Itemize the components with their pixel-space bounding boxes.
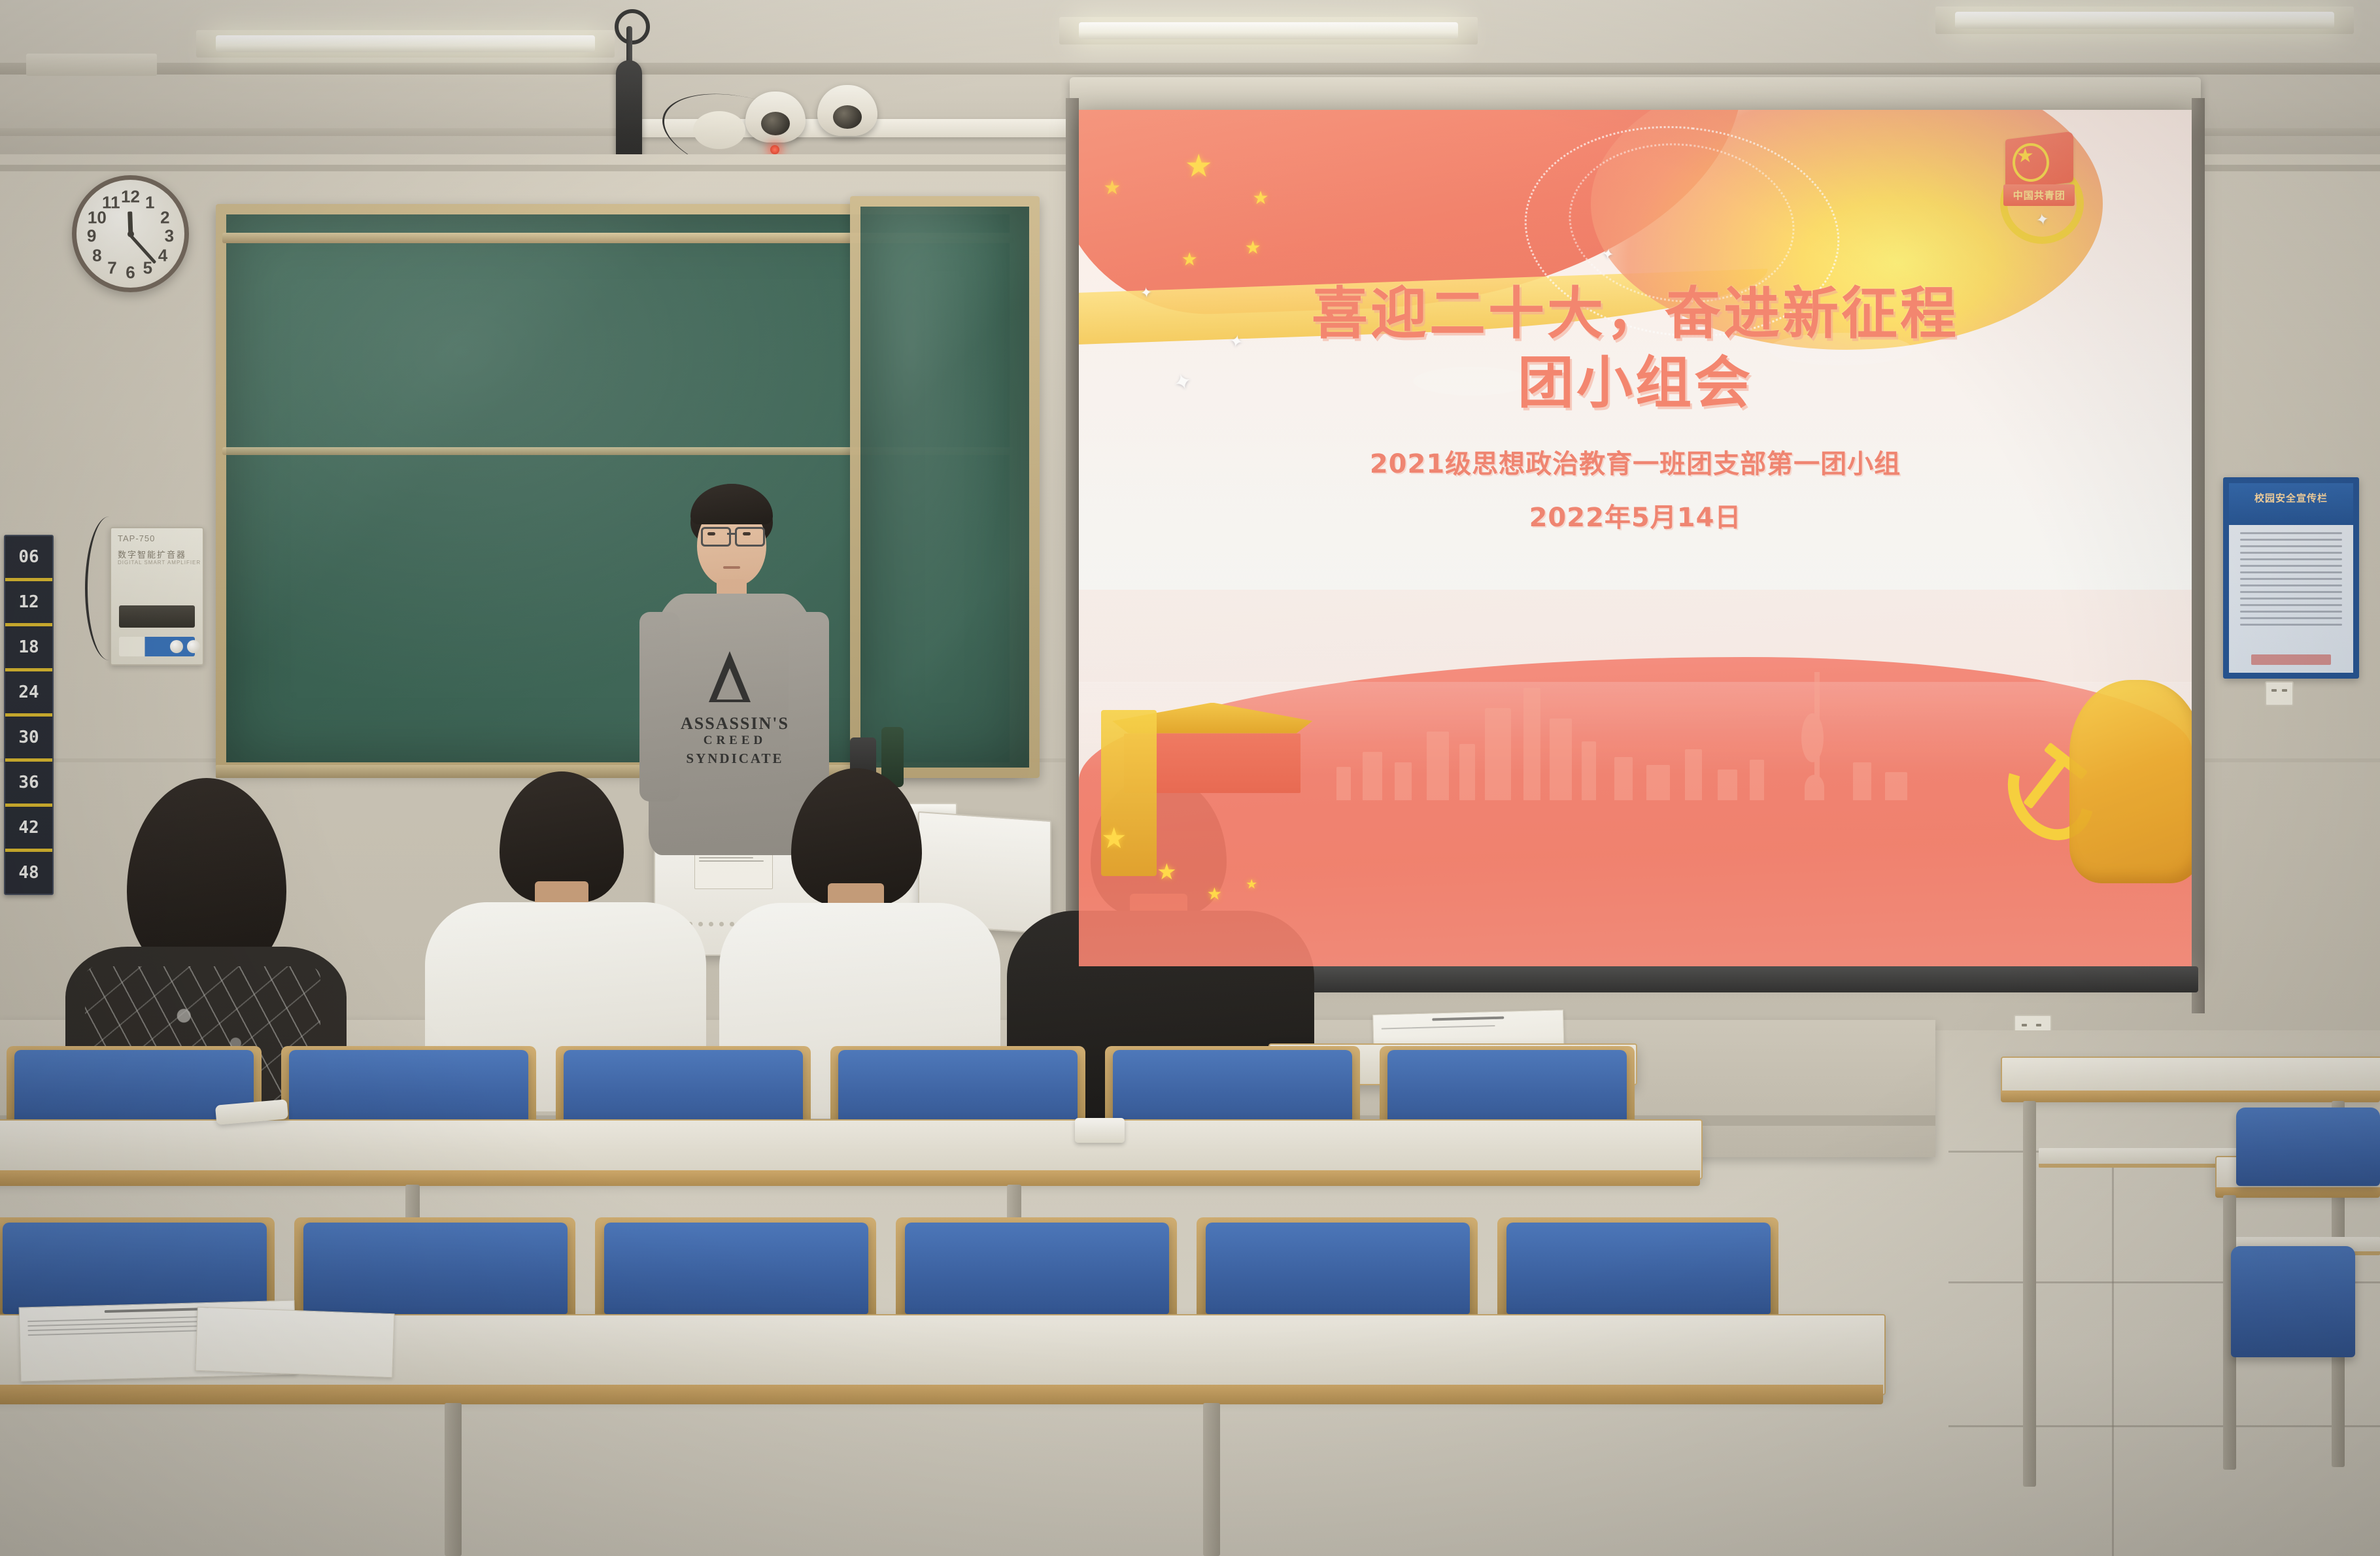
student-2 [425, 771, 700, 1066]
dove-icon: ✦ [2035, 212, 2050, 229]
wall-power-outlet[interactable] [2265, 681, 2294, 706]
side-chair-2[interactable] [2231, 1246, 2355, 1357]
footer-star-icon: ★ [1207, 885, 1222, 902]
clock-number: 8 [92, 245, 101, 265]
volume-knob[interactable] [170, 640, 183, 653]
floor-tile-line [2112, 1151, 2114, 1556]
slide-date: 2022年5月14日 [1079, 496, 2192, 534]
clock-number: 3 [165, 226, 174, 246]
classroom-photo: 12 1 2 3 4 5 6 7 8 9 10 11 TAP-750 数字智能扩… [0, 0, 2380, 1556]
chair-8[interactable] [303, 1223, 568, 1314]
ac-insignia-shape [709, 651, 751, 702]
mouth [723, 566, 740, 569]
flag-star-icon: ★ [1103, 178, 1121, 198]
desk-edge [0, 1170, 1700, 1186]
ceiling-light [216, 35, 595, 52]
floor-tile-line [1948, 1425, 2380, 1427]
ceiling-beam [0, 63, 2380, 75]
student-1 [59, 778, 333, 1066]
chair-7[interactable] [3, 1223, 267, 1314]
chair-12[interactable] [1506, 1223, 1771, 1314]
seat-number-cell: 12 [5, 581, 52, 626]
safety-poster: 校园安全宣传栏 [2223, 477, 2359, 679]
chair-11[interactable] [1206, 1223, 1470, 1314]
poster-footer-banner [2251, 654, 2331, 665]
footer-star-icon: ★ [1101, 824, 1127, 853]
seat-number-cell: 18 [5, 626, 52, 671]
light-fixture-housing [26, 54, 157, 76]
flag-star-icon: ★ [1253, 189, 1269, 207]
chair-2[interactable] [289, 1050, 528, 1130]
city-skyline-graphic [1323, 672, 1969, 800]
desk-edge [2001, 1091, 2380, 1102]
chalkboard-surface [860, 207, 1029, 768]
eye [743, 532, 751, 535]
poster-body-text [2240, 532, 2342, 646]
chair-4[interactable] [838, 1050, 1078, 1130]
slide-title-line2: 团小组会 [1079, 347, 2192, 420]
eye [707, 532, 715, 535]
glasses-icon [701, 527, 731, 547]
emblem-banner-text: 中国共青团 [2003, 184, 2075, 206]
mic-mount-icon [615, 9, 650, 44]
seat-number-cell: 42 [5, 807, 52, 852]
chair-10[interactable] [905, 1223, 1169, 1314]
slide-subtitle-line1: 2021级思想政治教育一班团支部第一团小组 [1079, 443, 2192, 481]
side-chair-1[interactable] [2236, 1108, 2380, 1186]
shirt-text-line3: SYNDICATE [670, 751, 800, 767]
seat-number-cell: 06 [5, 536, 52, 581]
clock-number: 2 [160, 207, 169, 228]
desk-paper [195, 1307, 394, 1378]
presenter-fringe [690, 484, 773, 524]
ceiling-light [1079, 22, 1458, 39]
seat-number-cell: 36 [5, 762, 52, 807]
seat-number-strip: 06 12 18 24 30 36 42 48 [4, 535, 54, 895]
clock-center-pin [127, 231, 134, 237]
panel-cable [85, 516, 133, 660]
clock-number: 11 [102, 192, 120, 212]
student-1-hair [127, 778, 286, 974]
desk-leg [1203, 1403, 1220, 1556]
seat-number-cell: 48 [5, 852, 52, 894]
seat-number-cell: 30 [5, 717, 52, 762]
chair-9[interactable] [604, 1223, 868, 1314]
shirt-text-line2: CREED [670, 734, 800, 748]
flag-star-icon: ★ [1181, 250, 1198, 269]
desk-edge [0, 1385, 1883, 1404]
chair-3[interactable] [564, 1050, 803, 1130]
mic-boom [626, 26, 632, 65]
projection-screen: ★ ★ ★ ★ ★ ★ 中国共青团 ✦ ✦ ✦ ✦ ✦ [1079, 110, 2192, 966]
desk-leg [445, 1403, 462, 1556]
screen-right-edge [2192, 98, 2205, 1013]
glasses-bridge [727, 533, 735, 535]
youth-league-emblem: ★ 中国共青团 [1989, 135, 2081, 233]
slide-footer-graphic: ★ ★ ★ ★ [1079, 590, 2192, 966]
dove-icon: ✦ [1601, 246, 1614, 262]
chalkboard-panel-right [850, 196, 1040, 778]
slide-title-line1: 喜迎二十大，奋进新征程 [1079, 281, 2192, 347]
whiteboard-eraser [1075, 1118, 1125, 1143]
flag-star-icon: ★ [1185, 151, 1213, 182]
clock-number: 12 [121, 187, 140, 207]
ceiling-light [1955, 12, 2334, 29]
footer-star-icon: ★ [1157, 861, 1176, 883]
clock-number: 6 [126, 262, 135, 282]
poster-title: 校园安全宣传栏 [2229, 491, 2353, 505]
wall-clock: 12 1 2 3 4 5 6 7 8 9 10 11 [72, 175, 189, 292]
glasses-icon [735, 527, 765, 547]
camera-lens-icon [833, 105, 862, 129]
chair-5[interactable] [1113, 1050, 1352, 1130]
desk-leg [2023, 1101, 2036, 1487]
footer-star-icon: ★ [1246, 878, 1257, 891]
clock-number: 4 [158, 245, 167, 265]
shirt-text-line1: ASSASSIN'S [670, 714, 800, 734]
panel-control-strip[interactable] [119, 637, 195, 656]
dome-camera-icon [817, 85, 877, 136]
student-3 [719, 768, 994, 1069]
emblem-star-icon: ★ [2016, 146, 2034, 166]
desk-edge [2215, 1187, 2380, 1198]
slide-text-block: 喜迎二十大，奋进新征程 团小组会 2021级思想政治教育一班团支部第一团小组 2… [1079, 281, 2192, 534]
golden-lion-statue-graphic [2069, 680, 2192, 883]
clock-number: 1 [145, 192, 154, 212]
clock-number: 7 [107, 258, 116, 279]
mic-knob[interactable] [187, 640, 200, 653]
chair-6[interactable] [1387, 1050, 1627, 1130]
flag-star-icon: ★ [1245, 239, 1261, 257]
clock-number: 9 [87, 226, 96, 246]
seat-number-cell: 24 [5, 671, 52, 717]
presentation-slide: ★ ★ ★ ★ ★ ★ 中国共青团 ✦ ✦ ✦ ✦ ✦ [1079, 110, 2192, 966]
